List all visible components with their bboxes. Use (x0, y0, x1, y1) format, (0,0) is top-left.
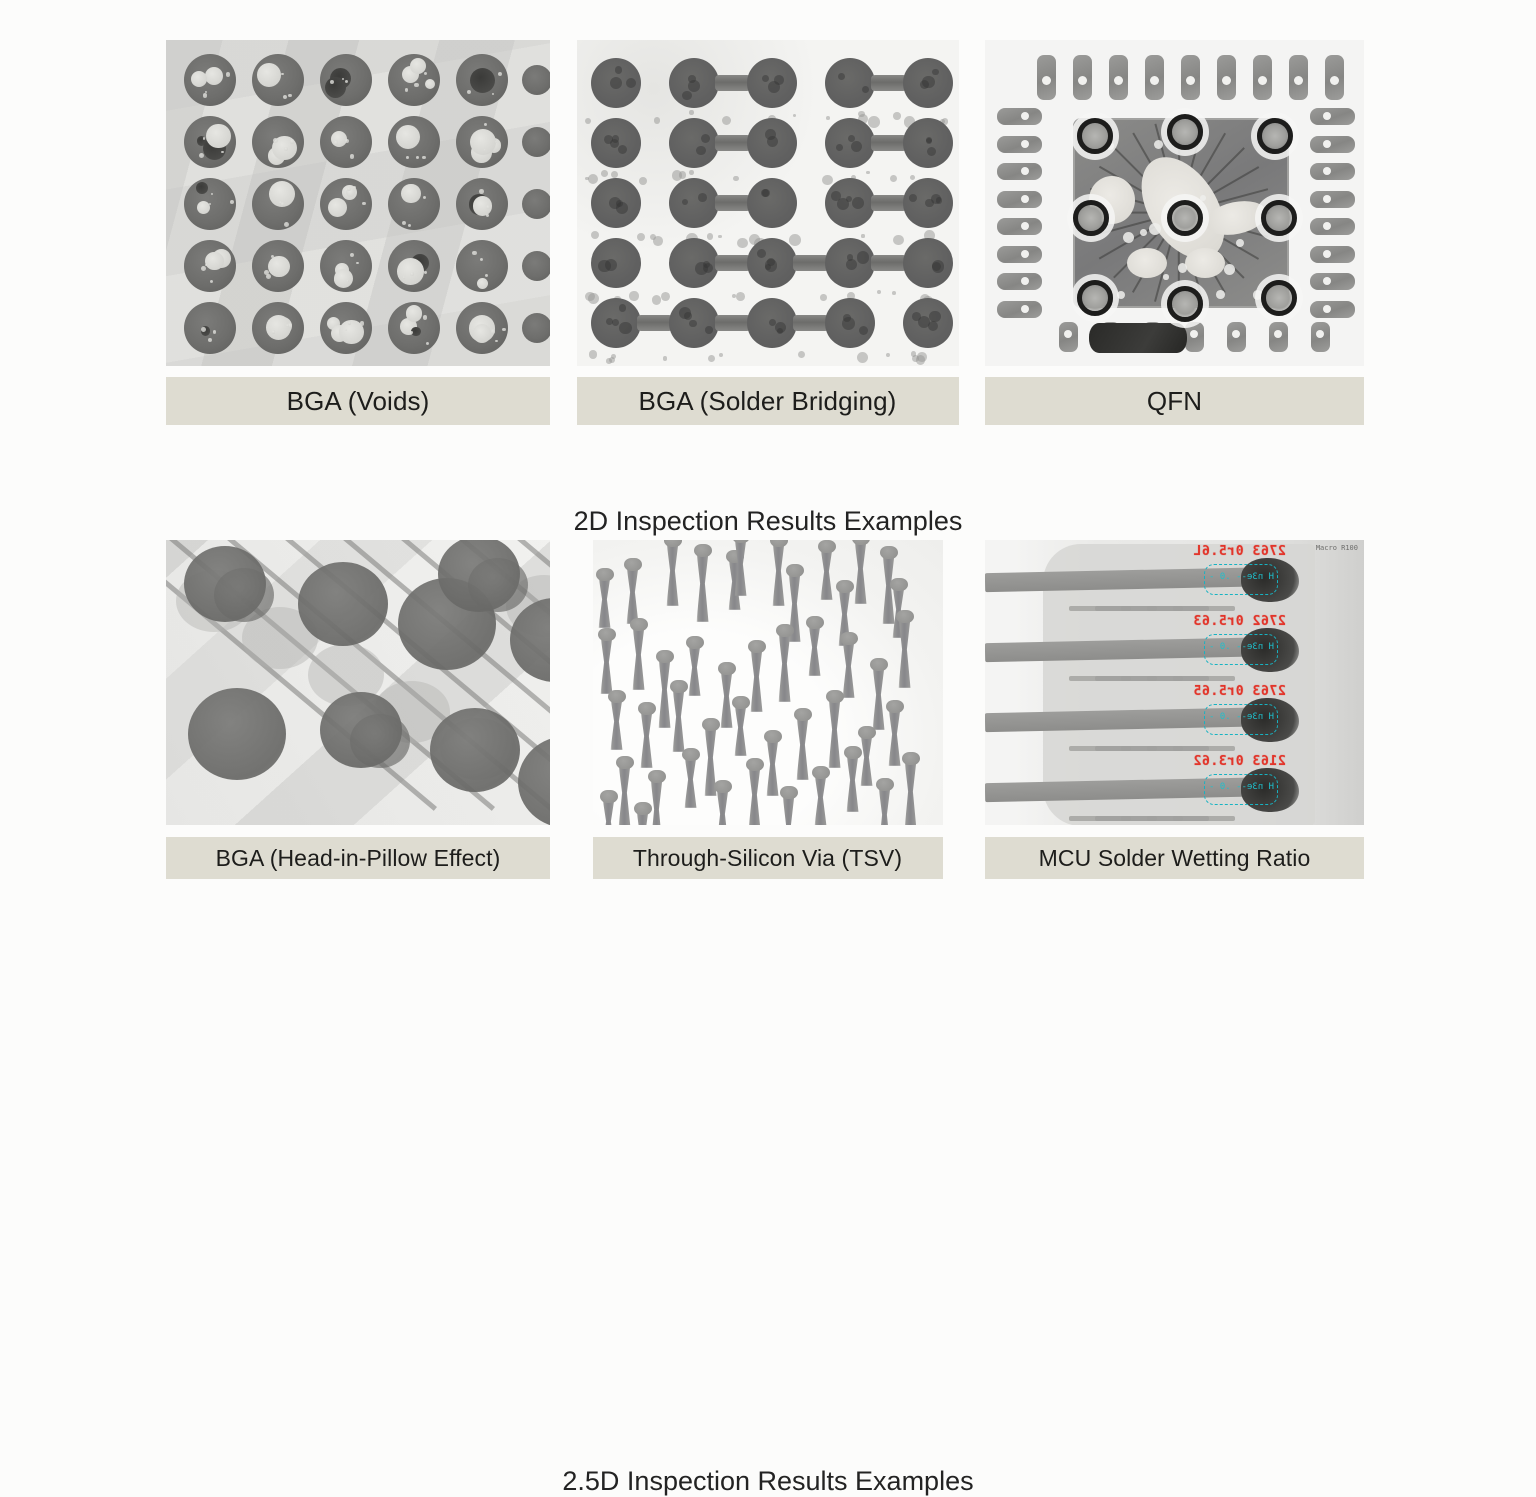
qfn-lead-hole (1316, 330, 1324, 338)
flux-speck (719, 353, 723, 357)
panel-mcu-solder-wetting-ratio[interactable]: H n3e-- .0 -2763 0r5.6LH n3e-- .0 -2762 … (985, 540, 1364, 879)
qfn-xray-canvas (985, 40, 1364, 366)
pad-void (682, 91, 691, 100)
flux-speck (820, 294, 826, 300)
panel-bga-head-in-pillow[interactable]: BGA (Head-in-Pillow Effect) (166, 540, 550, 879)
void-speck (1154, 140, 1163, 149)
bga-voids-xray-canvas (166, 40, 550, 366)
solder-ball (522, 313, 550, 343)
void-speck (1236, 239, 1244, 247)
bga-ball (298, 562, 388, 646)
micro-void (273, 138, 278, 143)
qfn-lead-hole (1323, 277, 1331, 285)
solder-bridge (793, 315, 829, 331)
micro-void (213, 330, 216, 333)
tsv-cap (880, 546, 898, 559)
void-inclusion (206, 124, 231, 149)
section-title-25d: 2.5D Inspection Results Examples (0, 1466, 1536, 1497)
tsv-cap (826, 690, 844, 703)
solder-bridge (793, 255, 829, 271)
void-inclusion (477, 278, 488, 289)
flux-speck (877, 290, 881, 294)
solder-pad (903, 238, 953, 288)
xray-mcu-solder-wetting-ratio: H n3e-- .0 -2763 0r5.6LH n3e-- .0 -2762 … (985, 540, 1364, 825)
solder-ball (184, 302, 236, 354)
solder-bridge (715, 135, 751, 151)
void-inclusion (396, 125, 420, 149)
tsv-cap (624, 558, 642, 571)
micro-void (467, 90, 471, 94)
tsv-cap (776, 624, 794, 637)
tsv-cap (794, 708, 812, 721)
caption-qfn: QFN (985, 377, 1364, 425)
tsv-cap (890, 578, 908, 591)
qfn-lead-hole (1021, 222, 1029, 230)
flux-speck (588, 174, 598, 184)
tsv-cap (638, 702, 656, 715)
flux-speck (886, 353, 890, 357)
tsv-cap (702, 718, 720, 731)
solder-bridge (871, 135, 907, 151)
solder-ball (522, 189, 550, 219)
flux-speck (661, 292, 670, 301)
pad-void (626, 78, 636, 88)
micro-void (346, 280, 348, 282)
void-inclusion (205, 67, 223, 85)
qfn-lead-hole (1190, 330, 1198, 338)
inspection-results-figure: BGA (Voids) BGA (Solder Bridging) (0, 0, 1536, 1024)
section-title-2d: 2D Inspection Results Examples (0, 506, 1536, 537)
pad-void (689, 320, 696, 327)
micro-void (201, 266, 206, 271)
xray-qfn (985, 40, 1364, 366)
void-speck (1216, 290, 1225, 299)
caption-mcu-solder-wetting-ratio: MCU Solder Wetting Ratio (985, 837, 1364, 879)
qfn-lead-left (997, 191, 1042, 208)
solder-ball (522, 251, 550, 281)
solder-pad (669, 118, 719, 168)
void-speck (1163, 274, 1168, 279)
qfn-thermal-pad (1089, 323, 1187, 353)
flux-speck (606, 358, 612, 364)
xray-through-silicon-via (593, 540, 943, 825)
micro-void (230, 200, 234, 204)
flux-speck (611, 354, 616, 359)
solder-ball (522, 65, 550, 95)
micro-void (486, 205, 490, 209)
qfn-via-ring (1261, 280, 1297, 316)
micro-void (472, 251, 476, 255)
flux-speck (663, 356, 668, 361)
dark-void (196, 182, 208, 194)
micro-void (423, 315, 427, 319)
tsv-cap (886, 700, 904, 713)
qfn-lead-right (1310, 136, 1355, 153)
panel-qfn[interactable]: QFN (985, 40, 1364, 425)
micro-void (281, 202, 284, 205)
micro-void (281, 73, 283, 75)
flux-speck (737, 238, 747, 248)
solder-pad (747, 178, 797, 228)
void-inclusion (268, 256, 290, 278)
tsv-cap (876, 778, 894, 791)
tsv-cap (748, 640, 766, 653)
qfn-lead-hole (1294, 76, 1303, 85)
pad-void (912, 312, 921, 321)
micro-void (502, 328, 506, 332)
qfn-lead-hole (1078, 76, 1087, 85)
panel-bga-voids[interactable]: BGA (Voids) (166, 40, 550, 425)
micro-void (479, 189, 484, 194)
qfn-lead-hole (1232, 330, 1240, 338)
comb-finger (1173, 746, 1235, 751)
tsv-cap (682, 748, 700, 761)
solder-bridge (871, 255, 907, 271)
solder-bridge (637, 315, 673, 331)
qfn-via-ring (1167, 200, 1203, 236)
qfn-via-ring (1257, 118, 1293, 154)
qfn-via-ring (1167, 286, 1203, 322)
flux-speck (650, 234, 656, 240)
pad-void (705, 326, 712, 333)
micro-void (284, 222, 289, 227)
tsv-cap (844, 746, 862, 759)
pad-void (769, 319, 776, 326)
micro-void (405, 88, 409, 92)
tsv-cap (836, 580, 854, 593)
panel-row-2d: BGA (Voids) BGA (Solder Bridging) (166, 40, 1364, 425)
flux-speck (892, 291, 896, 295)
pad-void (928, 321, 938, 331)
tsv-cap (714, 780, 732, 793)
tsv-cap (786, 564, 804, 577)
tsv-cap (812, 766, 830, 779)
micro-void (348, 321, 351, 324)
qfn-lead-hole (1186, 76, 1195, 85)
qfn-lead-hole (1064, 330, 1072, 338)
tsv-cap (596, 568, 614, 581)
tsv-cap (656, 650, 674, 663)
qfn-lead-hole (1150, 76, 1159, 85)
qfn-lead-hole (1021, 277, 1029, 285)
qfn-via-ring (1077, 118, 1113, 154)
void-inclusion (425, 79, 435, 89)
measurement-label: 2163 0r3.62 (1193, 754, 1286, 769)
void-inclusion (197, 201, 210, 214)
qfn-lead-right (1310, 191, 1355, 208)
tsv-cap (896, 610, 914, 623)
flux-speck (893, 235, 903, 245)
qfn-lead-hole (1021, 112, 1029, 120)
qfn-lead-hole (1021, 195, 1029, 203)
qfn-lead-right (1310, 246, 1355, 263)
solder-pad (825, 178, 875, 228)
qfn-lead-hole (1323, 305, 1331, 313)
qfn-lead-left (997, 301, 1042, 318)
tsv-cap (694, 544, 712, 557)
tsv-cap (780, 786, 798, 799)
tsv-cap (670, 680, 688, 693)
comb-finger (1173, 606, 1235, 611)
flux-speck (890, 175, 897, 182)
qfn-lead-hole (1021, 167, 1029, 175)
qfn-lead-hole (1330, 76, 1339, 85)
hip-xray-canvas (166, 540, 550, 825)
qfn-lead-right (1310, 163, 1355, 180)
solder-pad (825, 58, 875, 108)
xray-bga-voids (166, 40, 550, 366)
micro-void (272, 330, 276, 334)
micro-void (350, 154, 355, 159)
pad-void (777, 328, 783, 334)
flux-speck (893, 112, 901, 120)
solder-bridge (715, 315, 751, 331)
pad-void (761, 189, 769, 197)
micro-void (211, 193, 213, 195)
tsv-cap (598, 628, 616, 641)
qfn-lead-hole (1114, 76, 1123, 85)
pad-void (598, 260, 610, 272)
qfn-lead-hole (1258, 76, 1267, 85)
pad-void (615, 66, 622, 73)
flux-speck (733, 176, 739, 182)
solder-ball (522, 127, 550, 157)
pad-void (610, 77, 622, 89)
qfn-lead-hole (1323, 250, 1331, 258)
void-speck (1140, 229, 1147, 236)
pad-void (619, 322, 632, 335)
image-corner-tag: Macro R100 (1316, 544, 1358, 552)
dark-void (470, 68, 495, 93)
qfn-lead-hole (1323, 112, 1331, 120)
micro-void (414, 83, 418, 87)
bga-ball (430, 708, 520, 792)
tsv-cap (718, 662, 736, 675)
roi-glyph: H n3e-- .0 - (1209, 642, 1274, 652)
tsv-cap (902, 752, 920, 765)
pad-void (696, 146, 706, 156)
micro-void (422, 156, 426, 160)
micro-void (208, 338, 212, 342)
bridging-xray-canvas (577, 40, 959, 366)
flux-speck (654, 117, 661, 124)
tsv-cap (686, 636, 704, 649)
pad-void (688, 80, 700, 92)
section-25d-inspection: BGA (Head-in-Pillow Effect) Through-Sili… (0, 540, 1536, 990)
caption-through-silicon-via: Through-Silicon Via (TSV) (593, 837, 943, 879)
head-in-pillow-ball (214, 568, 274, 622)
void-speck (1178, 263, 1188, 273)
micro-void (423, 196, 426, 199)
pad-void (842, 317, 855, 330)
micro-void (486, 214, 488, 216)
pad-void (762, 75, 769, 82)
pad-void (925, 199, 934, 208)
flux-speck (601, 170, 608, 177)
tsv-cap (608, 690, 626, 703)
micro-void (334, 140, 338, 144)
caption-bga-voids: BGA (Voids) (166, 377, 550, 425)
qfn-lead-hole (1323, 140, 1331, 148)
tsv-cap (806, 616, 824, 629)
solder-bridge (715, 75, 751, 91)
qfn-lead-hole (1222, 76, 1231, 85)
solder-bridge (871, 75, 907, 91)
qfn-lead-left (997, 218, 1042, 235)
void-speck (1117, 291, 1125, 299)
roi-glyph: H n3e-- .0 - (1209, 712, 1274, 722)
qfn-lead-right (1310, 301, 1355, 318)
flux-speck (861, 234, 864, 237)
qfn-lead-left (997, 273, 1042, 290)
pad-void (847, 254, 854, 261)
qfn-lead-left (997, 163, 1042, 180)
flux-speck (679, 171, 687, 179)
caption-bga-head-in-pillow: BGA (Head-in-Pillow Effect) (166, 837, 550, 879)
flux-speck (736, 292, 745, 301)
qfn-lead-hole (1323, 222, 1331, 230)
tsv-cap (764, 730, 782, 743)
flux-speck (629, 291, 638, 300)
xray-bga-solder-bridging (577, 40, 959, 366)
measurement-label: 2763 0r5.6L (1193, 544, 1286, 559)
void-inclusion (191, 71, 207, 87)
void-speck (1149, 223, 1161, 235)
panel-row-25d: BGA (Head-in-Pillow Effect) Through-Sili… (166, 540, 1364, 879)
micro-void (408, 224, 411, 227)
pad-void (929, 311, 940, 322)
head-in-pillow-ball (468, 558, 528, 612)
die-attach-void (1185, 248, 1225, 278)
qfn-lead-hole (1021, 140, 1029, 148)
micro-void (353, 186, 356, 189)
qfn-lead-right (1310, 218, 1355, 235)
pad-void (932, 260, 944, 272)
solder-pad (825, 118, 875, 168)
flux-speck (789, 234, 801, 246)
tsv-cap (870, 658, 888, 671)
micro-void (283, 95, 287, 99)
panel-through-silicon-via[interactable]: Through-Silicon Via (TSV) (593, 540, 943, 879)
pad-void (757, 249, 766, 258)
micro-void (424, 271, 426, 273)
micro-void (226, 72, 230, 76)
qfn-lead-right (1310, 108, 1355, 125)
section-2d-inspection: BGA (Voids) BGA (Solder Bridging) (0, 40, 1536, 510)
solder-bridge (715, 255, 751, 271)
xray-bga-head-in-pillow (166, 540, 550, 825)
qfn-lead-hole (1021, 250, 1029, 258)
solder-bridge (715, 195, 751, 211)
mcu-xray-canvas: H n3e-- .0 -2763 0r5.6LH n3e-- .0 -2762 … (985, 540, 1364, 825)
flux-speck (868, 116, 880, 128)
void-speck (1123, 232, 1134, 243)
pad-void (774, 75, 784, 85)
pad-void (612, 135, 620, 143)
qfn-lead-hole (1021, 305, 1029, 313)
flux-speck (866, 171, 869, 174)
measurement-label: 2762 0r5.63 (1193, 614, 1286, 629)
pad-void (616, 202, 628, 214)
tsv-cap (648, 770, 666, 783)
roi-glyph: H n3e-- .0 - (1209, 572, 1274, 582)
solder-pad (669, 178, 719, 228)
qfn-lead-hole (1274, 330, 1282, 338)
bga-ball (188, 688, 286, 780)
pad-void (698, 193, 707, 202)
qfn-lead-hole (1042, 76, 1051, 85)
flux-speck (689, 170, 694, 175)
tsv-cap (840, 632, 858, 645)
void-inclusion (328, 198, 347, 217)
tsv-cap (858, 726, 876, 739)
qfn-lead-hole (1323, 167, 1331, 175)
qfn-lead-left (997, 136, 1042, 153)
qfn-via-ring (1073, 200, 1109, 236)
micro-void (290, 139, 294, 143)
micro-void (416, 156, 419, 159)
qfn-via-ring (1167, 114, 1203, 150)
void-speck (1224, 264, 1235, 275)
pad-void (703, 263, 713, 273)
tsv-cap (630, 618, 648, 631)
tsv-cap (634, 802, 652, 815)
qfn-via-ring (1261, 200, 1297, 236)
roi-glyph: H n3e-- .0 - (1209, 782, 1274, 792)
qfn-lead-left (997, 108, 1042, 125)
flux-speck (689, 110, 693, 114)
qfn-lead-right (1310, 273, 1355, 290)
tsv-cap (616, 756, 634, 769)
die-attach-void (1127, 248, 1167, 278)
void-speck (1200, 195, 1206, 201)
void-inclusion (205, 252, 223, 270)
tsv-cap (746, 758, 764, 771)
panel-bga-solder-bridging[interactable]: BGA (Solder Bridging) (577, 40, 959, 425)
qfn-lead-hole (1323, 195, 1331, 203)
flux-speck (585, 292, 594, 301)
comb-finger (1173, 816, 1235, 821)
tsv-xray-canvas (593, 540, 943, 825)
tsv-cap (818, 540, 836, 553)
flux-speck (822, 175, 833, 186)
caption-bga-solder-bridging: BGA (Solder Bridging) (577, 377, 959, 425)
qfn-lead-left (997, 246, 1042, 263)
measurement-label: 2763 0r5.65 (1193, 684, 1286, 699)
qfn-via-ring (1077, 280, 1113, 316)
comb-finger (1173, 676, 1235, 681)
pad-void (927, 147, 936, 156)
solder-bridge (871, 195, 907, 211)
tsv-cap (600, 790, 618, 803)
head-in-pillow-ball (350, 714, 410, 768)
micro-void (410, 331, 413, 334)
tsv-cap (732, 696, 750, 709)
